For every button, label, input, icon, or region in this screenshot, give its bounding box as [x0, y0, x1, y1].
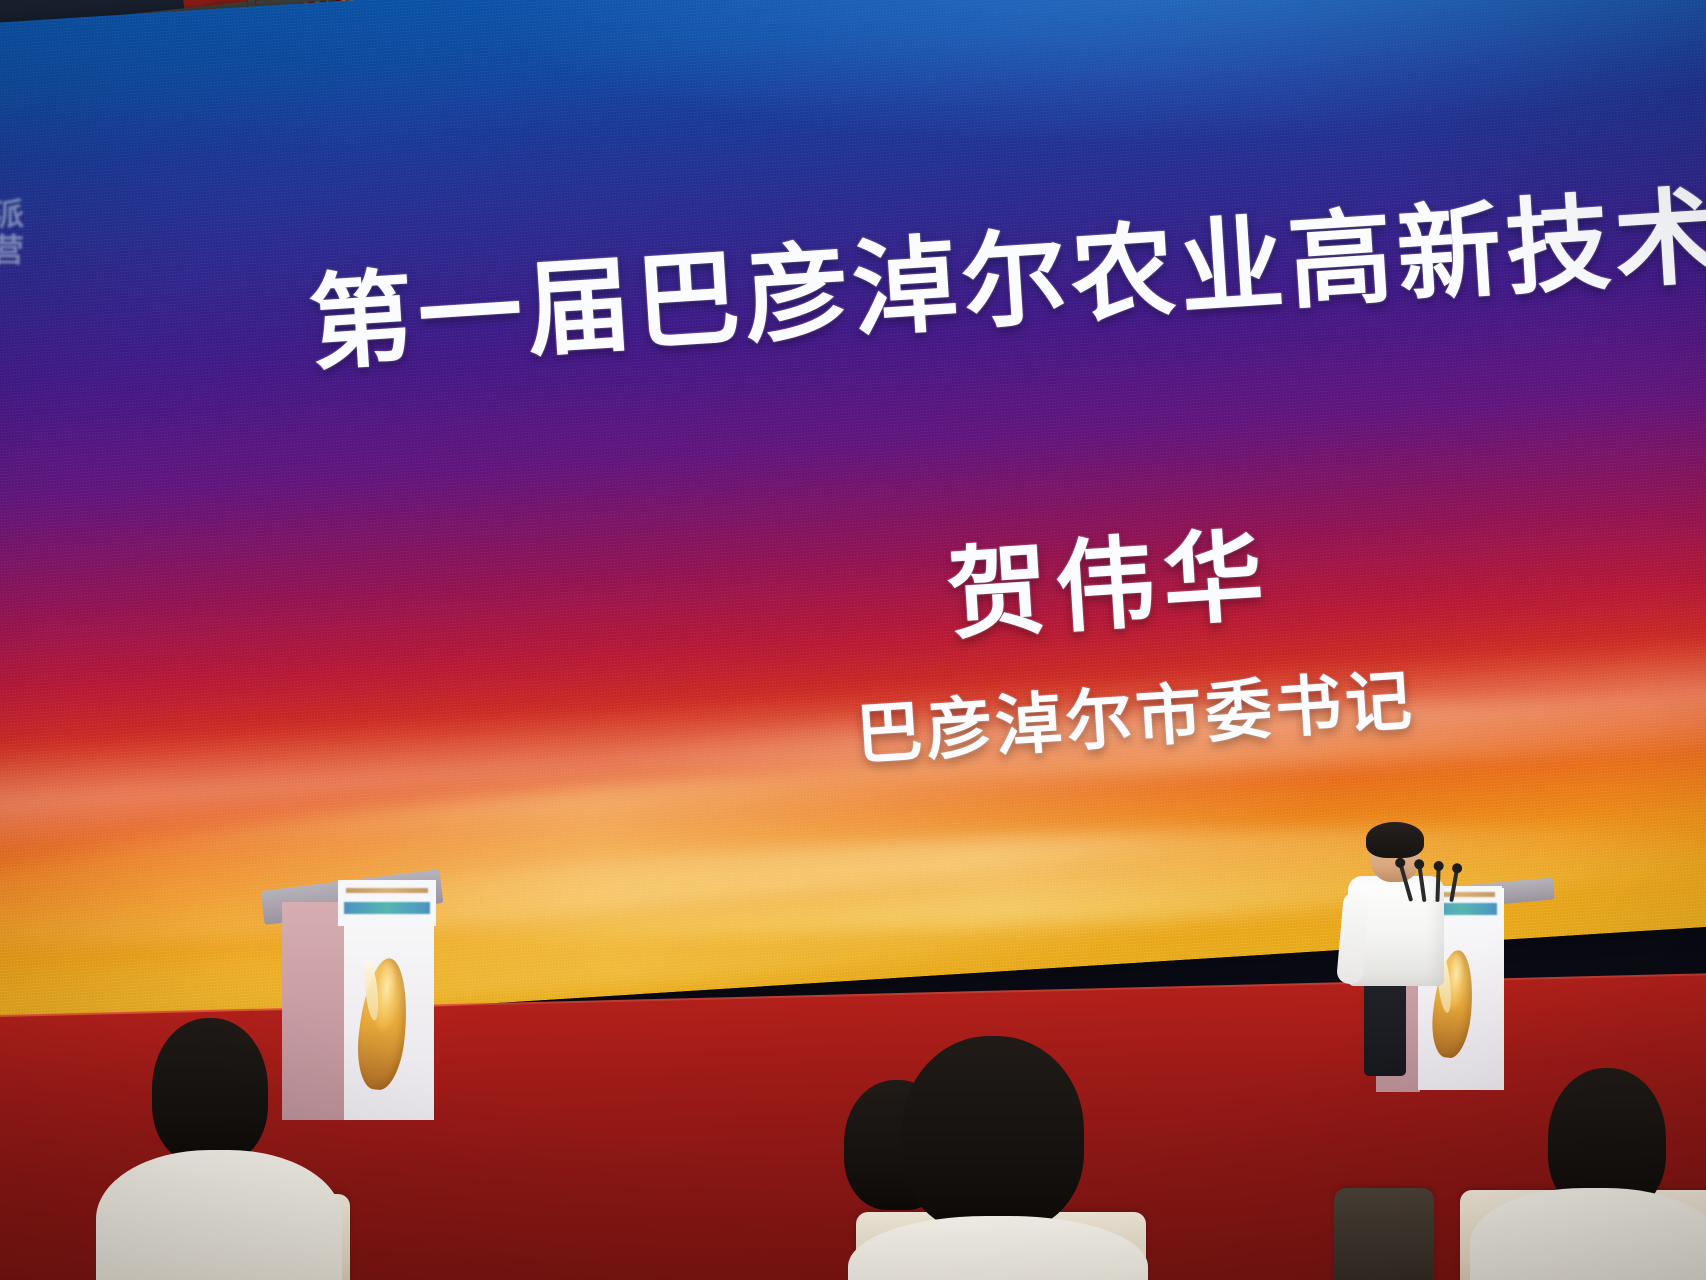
podium-left-plate [338, 880, 436, 926]
microphone-icon [1449, 870, 1458, 902]
microphone-icon [1418, 866, 1427, 902]
audience-head [152, 1018, 268, 1164]
microphone-icon [1399, 864, 1413, 902]
podium-left [256, 866, 476, 1116]
microphone-set [1400, 862, 1470, 902]
conference-stage-photo: 国家和区 文化 ANG TIANJE ДИС [0, 0, 1706, 1280]
audience-shoulders [96, 1150, 342, 1280]
audience-head [902, 1036, 1084, 1232]
chair [1334, 1188, 1434, 1280]
microphone-icon [1435, 868, 1440, 902]
left-edge-text-fragment: 派 营 [0, 196, 62, 268]
speaker-name: 贺伟华 [943, 494, 1275, 659]
